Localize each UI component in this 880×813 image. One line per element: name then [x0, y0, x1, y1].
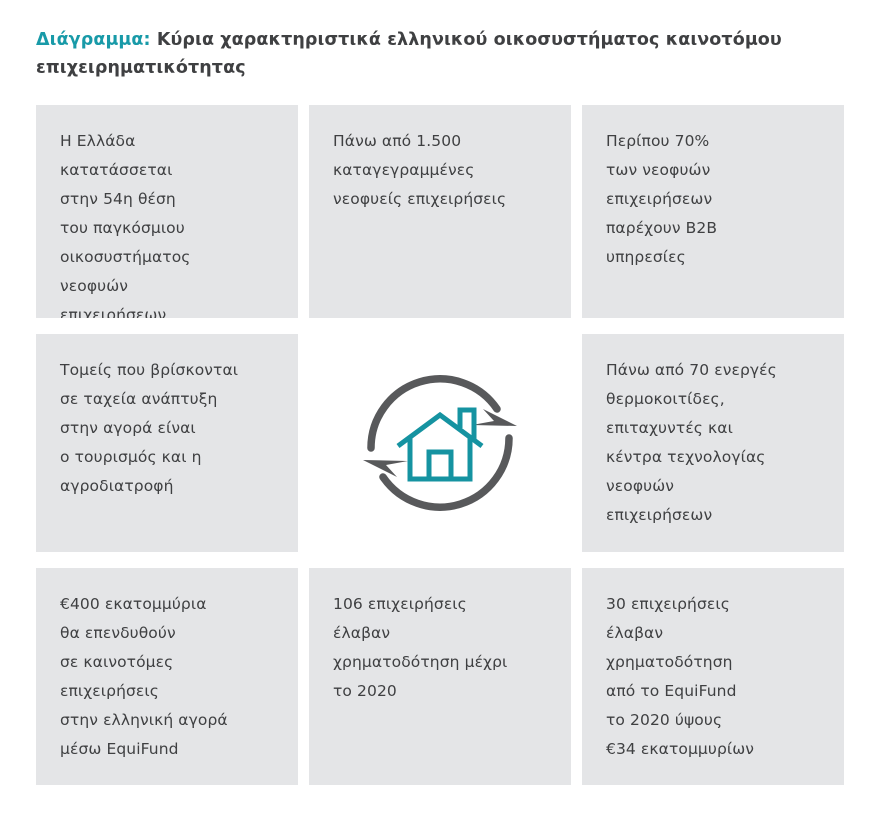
fact-card-2: Πάνω από 1.500 καταγεγραμμένες νεοφυείς …: [309, 105, 571, 318]
title-lead-label: Διάγραμμα:: [36, 30, 151, 50]
page-title: Διάγραμμα: Κύρια χαρακτηριστικά ελληνικο…: [36, 26, 826, 82]
fact-card-7-text: €400 εκατομμύρια θα επενδυθούν σε καινοτ…: [60, 590, 280, 764]
fact-card-1-text: Η Ελλάδα κατατάσσεται στην 54η θέση του …: [60, 127, 280, 318]
title-line: Διάγραμμα: Κύρια χαρακτηριστικά ελληνικο…: [36, 26, 826, 82]
center-icon-cell: [309, 334, 571, 552]
fact-card-8-text: 106 επιχειρήσεις έλαβαν χρηματοδότηση μέ…: [333, 590, 553, 706]
fact-card-1: Η Ελλάδα κατατάσσεται στην 54η θέση του …: [36, 105, 298, 318]
infographic-page: Διάγραμμα: Κύρια χαρακτηριστικά ελληνικο…: [0, 0, 880, 813]
fact-card-9-text: 30 επιχειρήσεις έλαβαν χρηματοδότηση από…: [606, 590, 826, 764]
fact-card-6: Πάνω από 70 ενεργές θερμοκοιτίδες, επιτα…: [582, 334, 844, 552]
facts-grid: Η Ελλάδα κατατάσσεται στην 54η θέση του …: [36, 105, 844, 786]
fact-card-2-text: Πάνω από 1.500 καταγεγραμμένες νεοφυείς …: [333, 127, 553, 214]
fact-card-9: 30 επιχειρήσεις έλαβαν χρηματοδότηση από…: [582, 568, 844, 785]
fact-card-7: €400 εκατομμύρια θα επενδυθούν σε καινοτ…: [36, 568, 298, 785]
fact-card-4-text: Τομείς που βρίσκονται σε ταχεία ανάπτυξη…: [60, 356, 280, 501]
fact-card-3: Περίπου 70% των νεοφυών επιχειρήσεων παρ…: [582, 105, 844, 318]
fact-card-3-text: Περίπου 70% των νεοφυών επιχειρήσεων παρ…: [606, 127, 826, 272]
cycle-house-icon: [350, 353, 530, 533]
fact-card-8: 106 επιχειρήσεις έλαβαν χρηματοδότηση μέ…: [309, 568, 571, 785]
fact-card-6-text: Πάνω από 70 ενεργές θερμοκοιτίδες, επιτα…: [606, 356, 826, 530]
fact-card-4: Τομείς που βρίσκονται σε ταχεία ανάπτυξη…: [36, 334, 298, 552]
